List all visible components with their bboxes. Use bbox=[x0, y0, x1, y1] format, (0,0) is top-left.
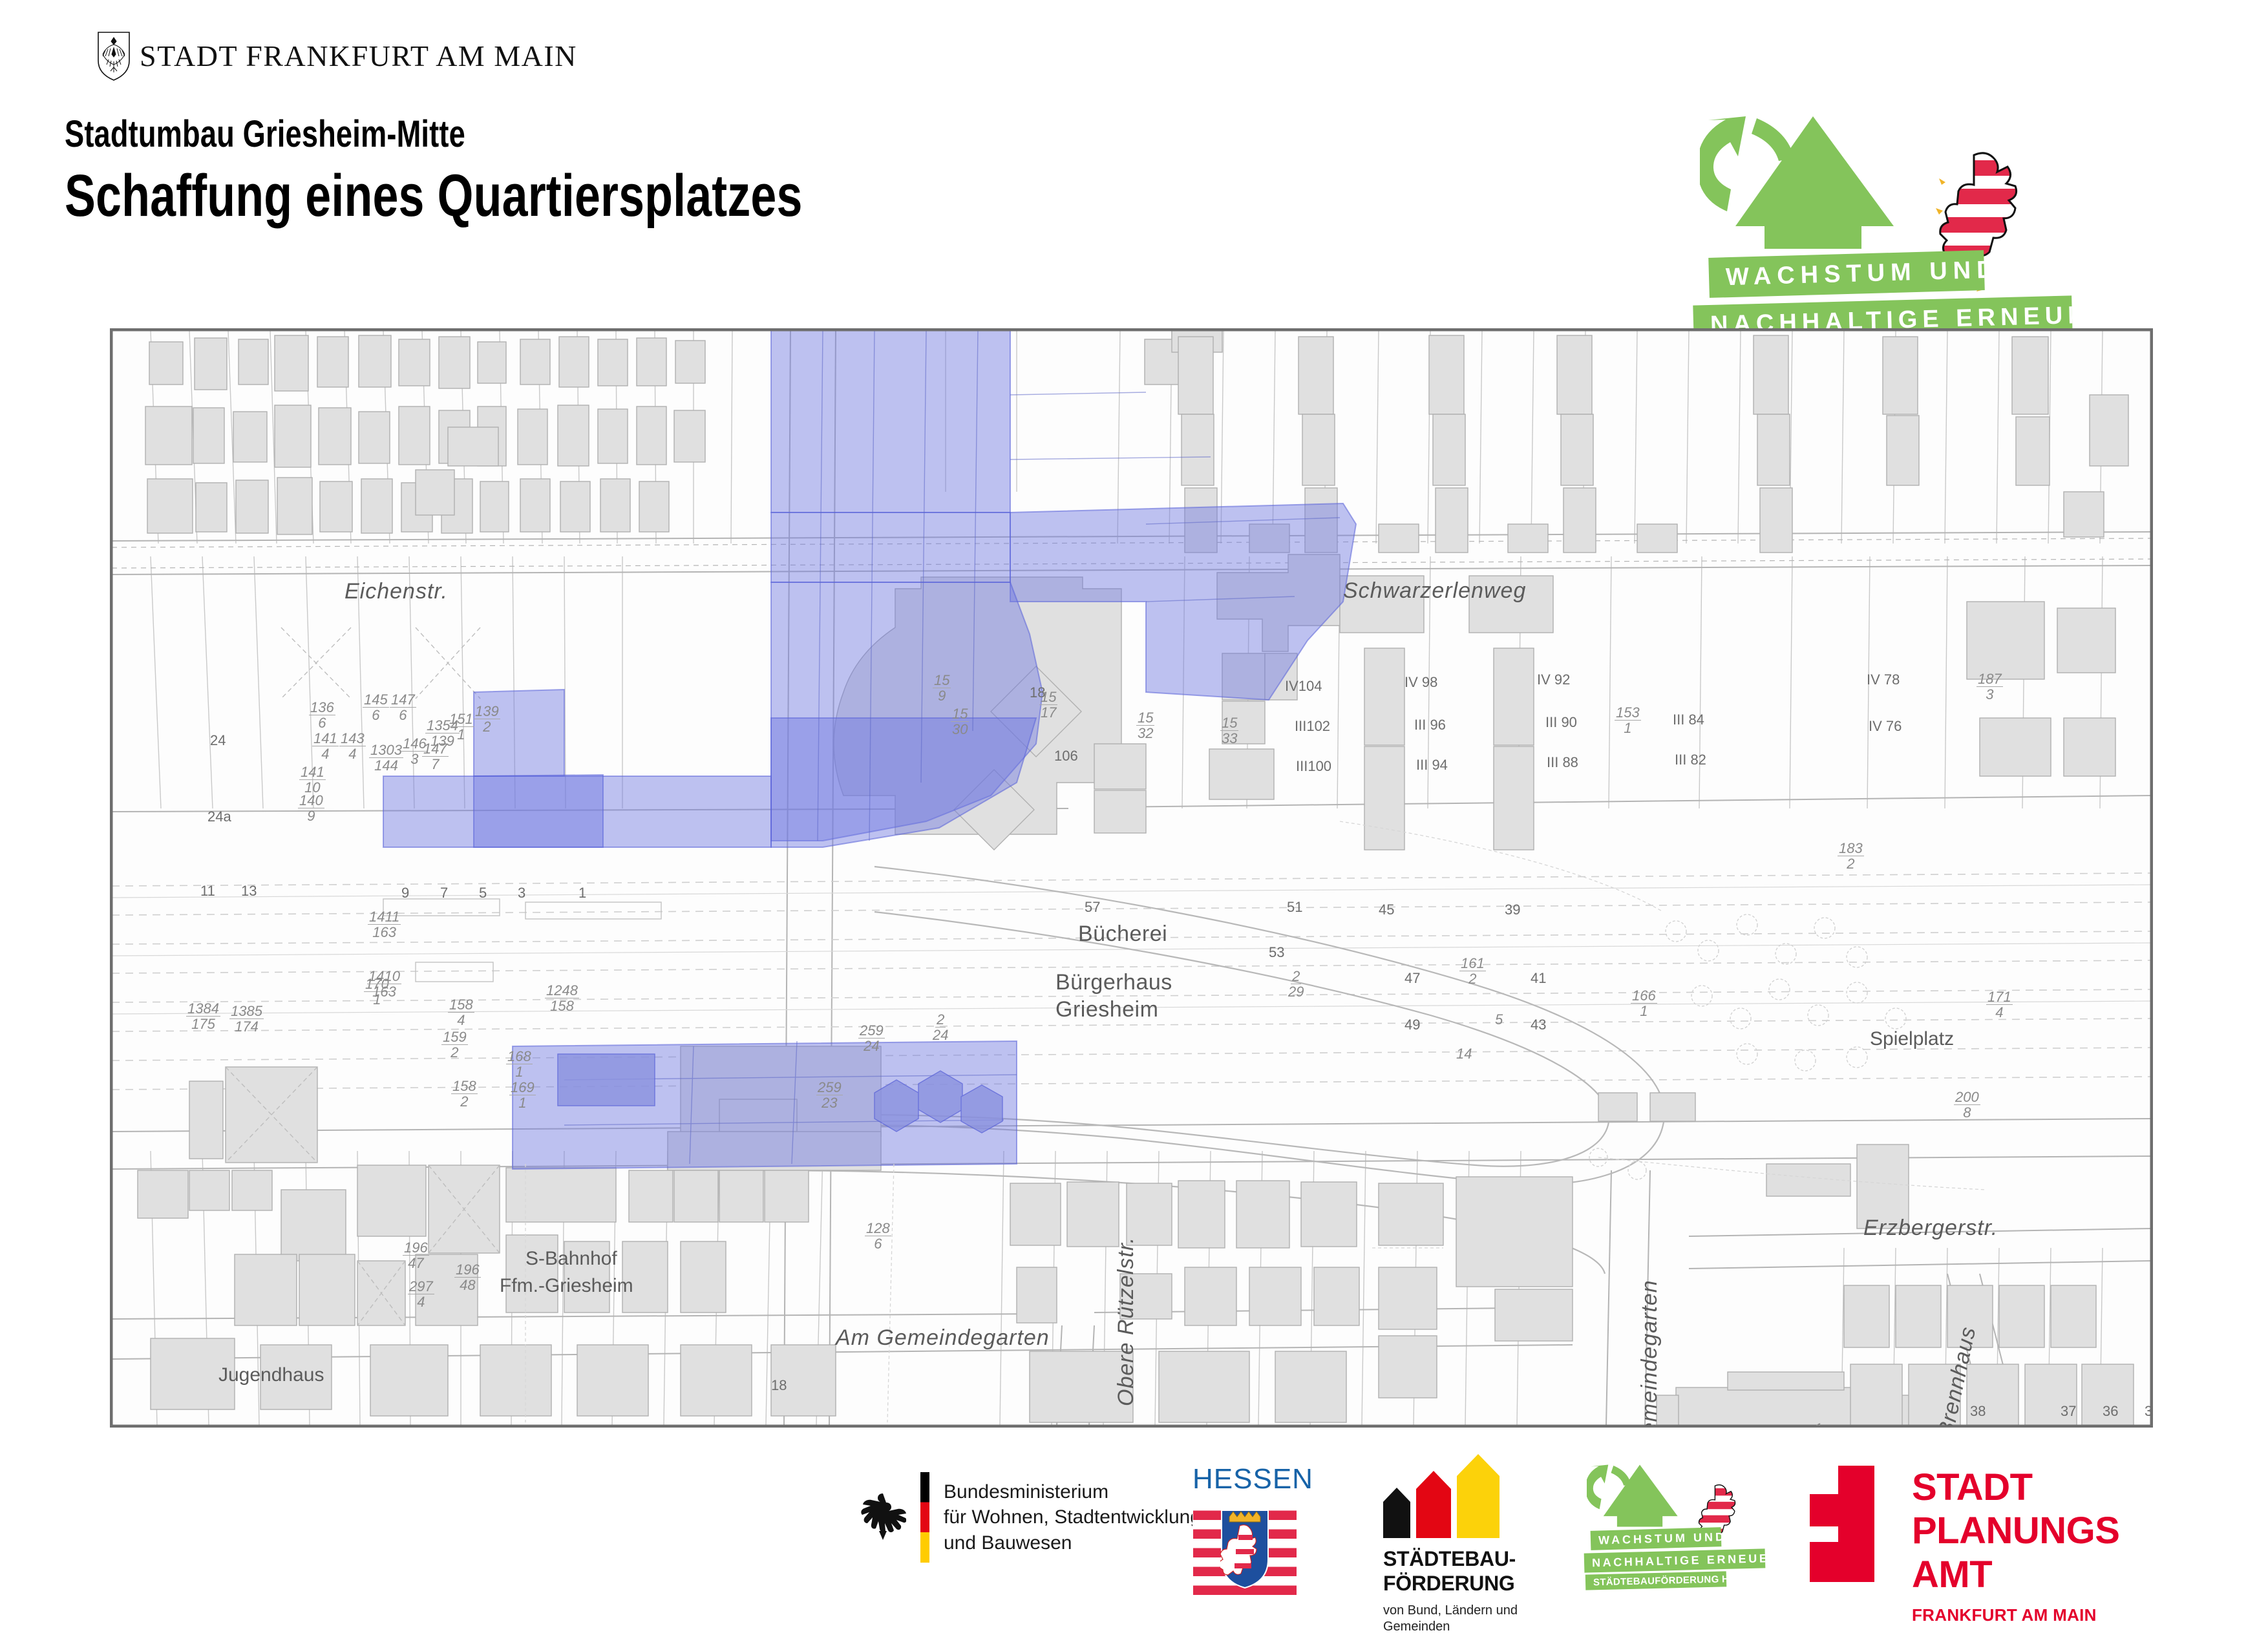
city-logo-wordmark: STADT FRANKFURT AM MAIN bbox=[140, 41, 577, 71]
wachstum-small-band-2: NACHHALTIGE ERNEUERUNG bbox=[1584, 1548, 1766, 1572]
spa-line-2: PLANUNGS bbox=[1912, 1509, 2119, 1552]
stadtplanungsamt-block-icon bbox=[1810, 1466, 1885, 1582]
hessen-coat-of-arms-icon bbox=[1220, 1509, 1269, 1589]
staedtebau-sub-2: Gemeinden bbox=[1383, 1619, 1518, 1635]
staedtebau-line-2: FÖRDERUNG bbox=[1383, 1572, 1518, 1596]
wachstum-band-1: WACHSTUM UND bbox=[1708, 250, 1985, 298]
german-flag-bar bbox=[920, 1472, 929, 1563]
green-arrow-tree-recycle-icon bbox=[1587, 1463, 1684, 1533]
staedtebau-sub-1: von Bund, Ländern und bbox=[1383, 1603, 1518, 1619]
frankfurt-eagle-crest-icon bbox=[97, 31, 131, 81]
federal-eagle-icon bbox=[860, 1490, 906, 1545]
city-logo: STADT FRANKFURT AM MAIN bbox=[97, 31, 577, 81]
hessen-wordmark: HESSEN bbox=[1192, 1463, 1296, 1495]
hessen-flag bbox=[1192, 1501, 1297, 1598]
staedtebau-title: STÄDTEBAU- FÖRDERUNG bbox=[1383, 1547, 1518, 1596]
three-houses-icon bbox=[1383, 1467, 1518, 1538]
staedtebau-subtitle: von Bund, Ländern und Gemeinden bbox=[1383, 1603, 1518, 1635]
wachstum-small-band-1: WACHSTUM UND bbox=[1591, 1527, 1722, 1550]
wachstum-small-band-3: STÄDTEBAUFÖRDERUNG HESSEN bbox=[1585, 1571, 1727, 1590]
title-block: Stadtumbau Griesheim-Mitte Schaffung ein… bbox=[65, 115, 1011, 227]
bmwsb-line-2: für Wohnen, Stadtentwicklung bbox=[944, 1504, 1201, 1530]
spa-line-1: STADT bbox=[1912, 1466, 2119, 1509]
cadastral-map[interactable]: Eichenstr.SchwarzerlenwegErzbergerstr.Am… bbox=[110, 328, 2153, 1428]
stadtplanungsamt-logo: STADT PLANUNGS AMT FRANKFURT AM MAIN bbox=[1810, 1466, 2119, 1625]
hessen-logo: HESSEN bbox=[1192, 1463, 1296, 1598]
bmwsb-text: Bundesministerium für Wohnen, Stadtentwi… bbox=[944, 1479, 1201, 1556]
map-vector-layer bbox=[112, 330, 2151, 1426]
wachstum-erneuerung-logo-small: WACHSTUM UND NACHHALTIGE ERNEUERUNG STÄD… bbox=[1587, 1463, 1774, 1586]
stadtplanungsamt-text: STADT PLANUNGS AMT FRANKFURT AM MAIN bbox=[1912, 1466, 2119, 1625]
page-subtitle: Stadtumbau Griesheim-Mitte bbox=[65, 115, 803, 154]
bmwsb-line-3: und Bauwesen bbox=[944, 1530, 1201, 1556]
bmwsb-line-1: Bundesministerium bbox=[944, 1479, 1201, 1505]
green-arrow-tree-recycle-icon bbox=[1700, 113, 1907, 262]
staedtebau-line-1: STÄDTEBAU- bbox=[1383, 1547, 1518, 1572]
spa-city: FRANKFURT AM MAIN bbox=[1912, 1605, 2119, 1625]
bmwsb-logo: Bundesministerium für Wohnen, Stadtentwi… bbox=[860, 1472, 1201, 1563]
page-footer: Bundesministerium für Wohnen, Stadtentwi… bbox=[0, 1448, 2268, 1603]
spa-line-3: AMT bbox=[1912, 1553, 2119, 1596]
page-title: Schaffung eines Quartiersplatzes bbox=[65, 165, 803, 227]
page-header: STADT FRANKFURT AM MAIN Stadtumbau Gries… bbox=[0, 0, 2268, 323]
staedtebaufoerderung-logo: STÄDTEBAU- FÖRDERUNG von Bund, Ländern u… bbox=[1383, 1467, 1518, 1635]
